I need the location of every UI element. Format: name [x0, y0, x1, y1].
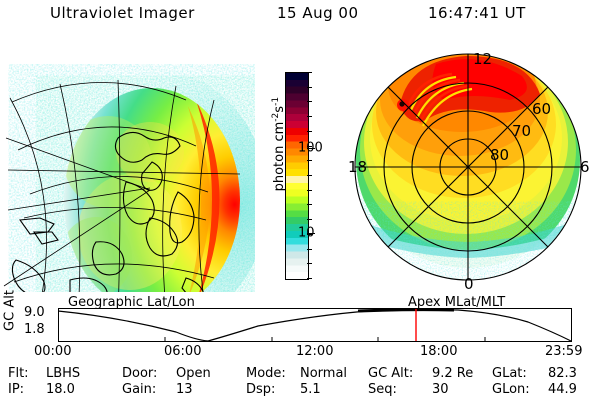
mlt-label-0: 0	[464, 275, 474, 292]
strip-y-axis-label: GC Alt	[3, 285, 18, 337]
colorbar-unit-mid: s	[272, 106, 287, 113]
header-bar: Ultraviolet Imager 15 Aug 00 16:47:41 UT	[0, 4, 600, 30]
status-value: 82.3	[548, 366, 577, 381]
colorbar-unit-main: photon cm	[272, 122, 287, 192]
status-value: Normal	[300, 366, 347, 381]
apex-dial-panel[interactable]: 12 6 0 18 60 70 80	[340, 42, 600, 292]
status-value: Open	[176, 366, 211, 381]
apogee-segment	[358, 310, 454, 311]
status-value: 9.2 Re	[432, 366, 473, 381]
status-value: 5.1	[300, 382, 321, 397]
time-axis: 00:0006:0012:0018:0023:59	[0, 344, 600, 364]
geographic-image-panel[interactable]	[0, 42, 255, 292]
status-row: IP:18.0Gain:13Dsp:5.1Seq:30GLon:44.9	[0, 382, 600, 399]
colorbar-gradient[interactable]	[285, 72, 309, 280]
status-value: 18.0	[46, 382, 75, 397]
status-panel: Flt:LBHSDoor:OpenMode:NormalGC Alt:9.2 R…	[0, 366, 600, 400]
time-tick-label: 18:00	[420, 344, 457, 359]
colorbar-unit-sup2: -1	[271, 97, 281, 106]
orbit-altitude-strip-chart[interactable]: Geographic Lat/Lon Apex MLat/MLT GC Alt …	[0, 296, 600, 346]
mlt-label-6: 6	[580, 158, 590, 176]
time-tick-label: 12:00	[296, 344, 333, 359]
dial-grid	[355, 54, 581, 280]
status-key: Door:	[122, 366, 157, 381]
status-row: Flt:LBHSDoor:OpenMode:NormalGC Alt:9.2 R…	[0, 366, 600, 383]
mlt-label-18: 18	[348, 158, 367, 176]
instrument-title: Ultraviolet Imager	[50, 4, 195, 22]
lat-label-60: 60	[532, 100, 551, 118]
strip-chart-svg	[58, 308, 572, 342]
observation-date: 15 Aug 00	[277, 4, 359, 22]
time-tick-label: 00:00	[34, 344, 71, 359]
observation-time: 16:47:41 UT	[428, 4, 526, 22]
status-key: Dsp:	[246, 382, 275, 397]
colorbar-unit-sup1: -2	[271, 113, 281, 122]
status-key: Mode:	[246, 366, 286, 381]
status-value: 30	[432, 382, 449, 397]
time-tick-label: 06:00	[164, 344, 201, 359]
status-key: Seq:	[368, 382, 397, 397]
status-key: GLon:	[492, 382, 530, 397]
status-value: 13	[176, 382, 193, 397]
colorbar-axis-label: photon cm-2s-1	[271, 79, 287, 209]
time-tick-label: 23:59	[545, 344, 582, 359]
strip-y-min: 1.8	[24, 322, 45, 337]
polar-dial-svg: 12 6 0 18 60 70 80	[340, 42, 600, 292]
altitude-trace	[58, 310, 571, 341]
lat-label-80: 80	[490, 146, 509, 164]
status-value: LBHS	[46, 366, 80, 381]
status-key: Flt:	[8, 366, 29, 381]
status-key: GC Alt:	[368, 366, 413, 381]
status-value: 44.9	[548, 382, 577, 397]
status-key: IP:	[8, 382, 24, 397]
mlt-label-12: 12	[473, 50, 492, 68]
status-key: GLat:	[492, 366, 527, 381]
strip-y-max: 9.0	[24, 305, 45, 320]
lat-label-70: 70	[512, 122, 531, 140]
status-key: Gain:	[122, 382, 156, 397]
geographic-projection-svg	[0, 42, 255, 292]
colorbar-panel: 10010 photon cm-2s-1	[255, 42, 340, 292]
